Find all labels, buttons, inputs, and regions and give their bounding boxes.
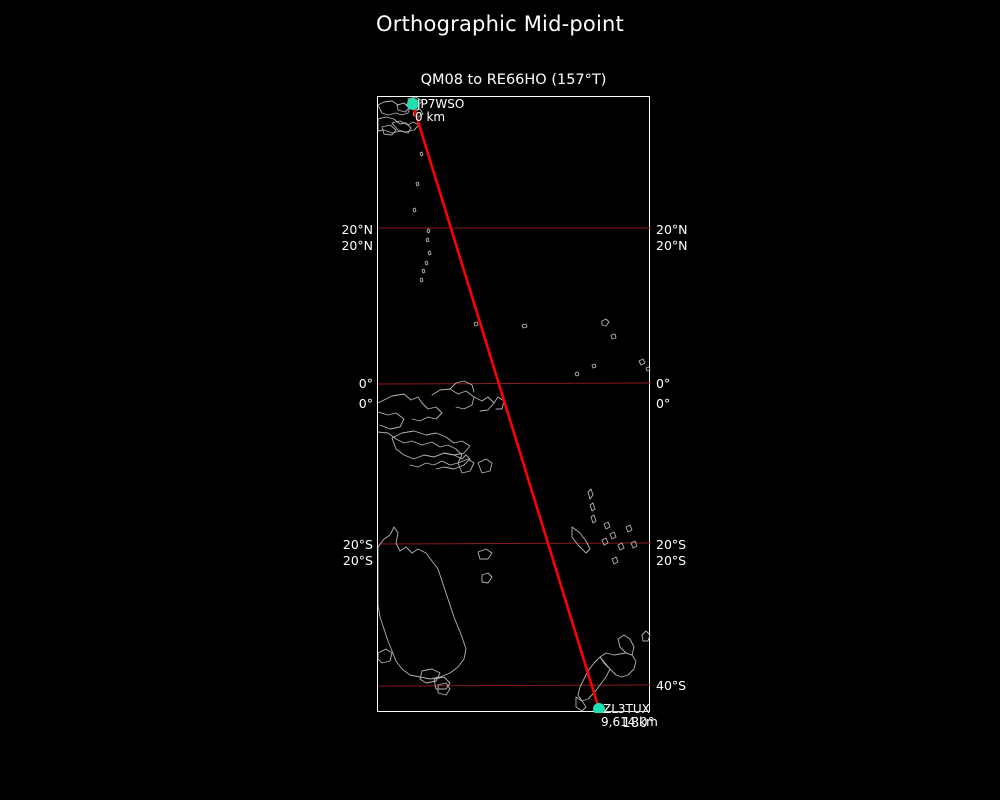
- lat-label-left-20n-a: 20°N: [295, 222, 373, 238]
- lat-label-left-0-b: 0°: [295, 396, 373, 412]
- figure-canvas: Orthographic Mid-point QM08 to RE66HO (1…: [0, 0, 1000, 800]
- start-distance-label: 0 km: [415, 111, 445, 124]
- lat-label-right-0-a: 0°: [656, 376, 670, 392]
- lat-label-left-0-a: 0°: [295, 376, 373, 392]
- map-panel[interactable]: [377, 96, 650, 712]
- map-graphic: [378, 97, 651, 713]
- great-circle-path: [413, 105, 599, 709]
- lat-label-right-0-b: 0°: [656, 396, 670, 412]
- figure-suptitle: Orthographic Mid-point: [0, 12, 1000, 36]
- coastlines: [378, 97, 650, 711]
- lat-label-right-40s: 40°S: [656, 678, 686, 694]
- lat-label-right-20s-a: 20°S: [656, 537, 686, 553]
- axes-title: QM08 to RE66HO (157°T): [377, 72, 650, 88]
- lat-label-left-20n-b: 20°N: [295, 238, 373, 254]
- end-distance-label: 9,614 km: [601, 716, 658, 729]
- lat-label-left-20s-a: 20°S: [295, 537, 373, 553]
- lat-label-right-20n-b: 20°N: [656, 238, 688, 254]
- lat-label-right-20s-b: 20°S: [656, 553, 686, 569]
- lat-label-right-20n-a: 20°N: [656, 222, 688, 238]
- lat-label-left-20s-b: 20°S: [295, 553, 373, 569]
